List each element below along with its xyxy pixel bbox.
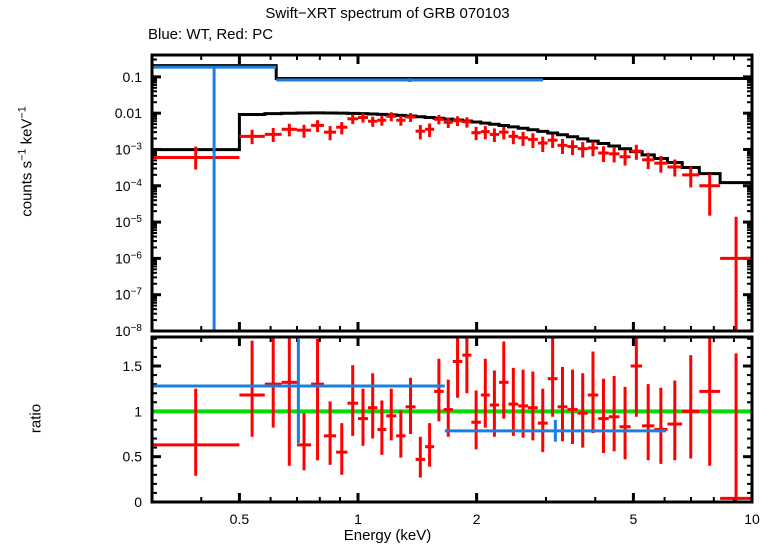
x-tick-label: 5 <box>629 511 637 527</box>
y-tick-label-ratio: 0 <box>134 494 142 510</box>
y-tick-label-ratio: 0.5 <box>123 449 143 465</box>
y-tick-label-spectrum: 0.1 <box>123 69 143 85</box>
y-tick-label-spectrum: 10−8 <box>115 323 142 339</box>
y-tick-label-ratio: 1 <box>134 403 142 419</box>
y-tick-label-spectrum: 10−5 <box>115 214 142 230</box>
y-tick-label-spectrum: 0.01 <box>115 105 142 121</box>
y-tick-label-spectrum: 10−3 <box>115 141 142 157</box>
chart-root: Swift−XRT spectrum of GRB 070103 Blue: W… <box>0 0 775 556</box>
x-tick-label: 10 <box>744 511 760 527</box>
spectrum-panel-frame <box>152 55 752 331</box>
x-tick-label: 2 <box>473 511 481 527</box>
y-tick-label-spectrum: 10−6 <box>115 250 142 266</box>
y-tick-label-ratio: 1.5 <box>123 358 143 374</box>
x-tick-label: 1 <box>354 511 362 527</box>
y-tick-label-spectrum: 10−4 <box>115 178 142 194</box>
x-tick-label: 0.5 <box>230 511 250 527</box>
y-tick-label-spectrum: 10−7 <box>115 287 142 303</box>
plot-canvas: 0.5125100.10.0110−310−410−510−610−710−80… <box>0 0 775 556</box>
spectrum-panel-frame-top <box>152 55 752 331</box>
